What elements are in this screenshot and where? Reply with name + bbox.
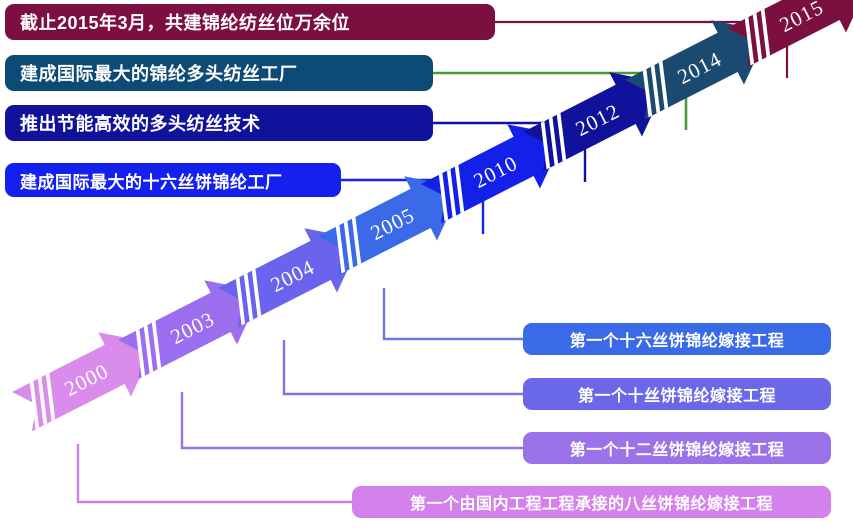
header-box-label: 截止2015年3月，共建锦纶纺丝位万余位 bbox=[20, 9, 350, 35]
milestone-2012-label: 推出节能高效的多头纺丝技术 bbox=[20, 110, 261, 136]
milestone-2012-box: 推出节能高效的多头纺丝技术 bbox=[5, 105, 433, 141]
milestone-2014-box: 建成国际最大的锦纶多头纺丝工厂 bbox=[5, 55, 433, 91]
project-sixteen-box: 第一个十六丝饼锦纶嫁接工程 bbox=[523, 323, 831, 355]
project-eight-box: 第一个由国内工程工程承接的八丝饼锦纶嫁接工程 bbox=[352, 486, 831, 518]
project-ten-box: 第一个十丝饼锦纶嫁接工程 bbox=[523, 378, 831, 410]
project-ten-label: 第一个十丝饼锦纶嫁接工程 bbox=[578, 382, 776, 406]
project-twelve-label: 第一个十二丝饼锦纶嫁接工程 bbox=[570, 436, 785, 460]
project-sixteen-label: 第一个十六丝饼锦纶嫁接工程 bbox=[570, 327, 785, 351]
milestone-2010-box: 建成国际最大的十六丝饼锦纶工厂 bbox=[5, 163, 341, 197]
header-box: 截止2015年3月，共建锦纶纺丝位万余位 bbox=[5, 4, 495, 40]
project-twelve-box: 第一个十二丝饼锦纶嫁接工程 bbox=[523, 432, 831, 464]
milestone-2010-label: 建成国际最大的十六丝饼锦纶工厂 bbox=[20, 168, 283, 193]
project-eight-label: 第一个由国内工程工程承接的八丝饼锦纶嫁接工程 bbox=[410, 490, 773, 514]
timeline-diagram: 20002003200420052010201220142015 截止2015年… bbox=[0, 0, 853, 529]
milestone-2014-label: 建成国际最大的锦纶多头纺丝工厂 bbox=[20, 60, 298, 86]
